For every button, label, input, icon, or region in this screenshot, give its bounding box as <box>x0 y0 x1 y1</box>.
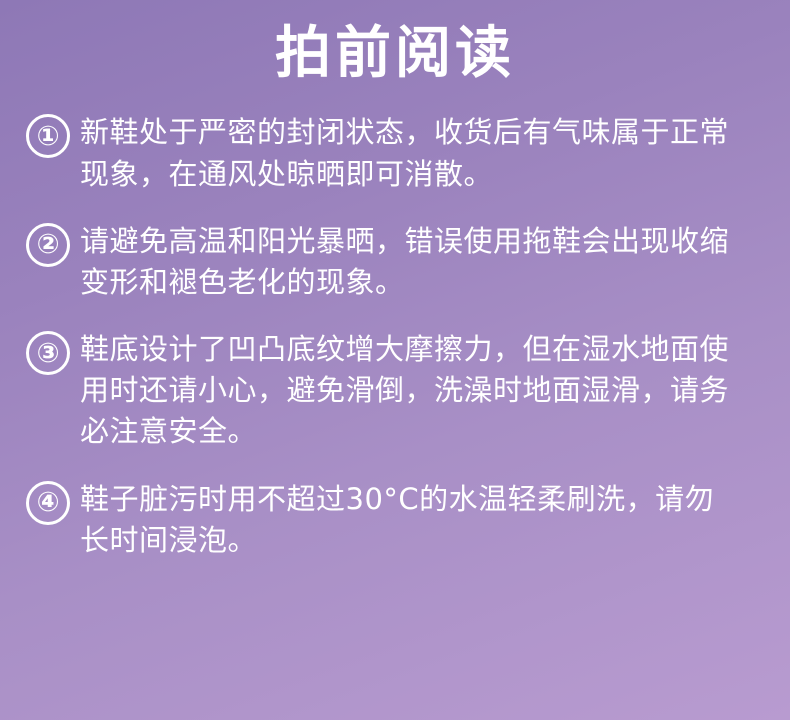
list-item: ③ 鞋底设计了凹凸底纹增大摩擦力，但在湿水地面使用时还请小心，避免滑倒，洗澡时地… <box>26 329 750 453</box>
item-number-badge: ② <box>26 223 70 267</box>
item-text: 鞋底设计了凹凸底纹增大摩擦力，但在湿水地面使用时还请小心，避免滑倒，洗澡时地面湿… <box>80 329 740 453</box>
notice-list: ① 新鞋处于严密的封闭状态，收货后有气味属于正常现象，在通风处晾晒即可消散。 ②… <box>0 96 790 561</box>
item-number-badge: ① <box>26 114 70 158</box>
item-text: 新鞋处于严密的封闭状态，收货后有气味属于正常现象，在通风处晾晒即可消散。 <box>80 112 740 194</box>
list-item: ④ 鞋子脏污时用不超过30°C的水温轻柔刷洗，请勿长时间浸泡。 <box>26 479 750 561</box>
item-text: 请避免高温和阳光暴晒，错误使用拖鞋会出现收缩变形和褪色老化的现象。 <box>80 221 740 303</box>
list-item: ① 新鞋处于严密的封闭状态，收货后有气味属于正常现象，在通风处晾晒即可消散。 <box>26 112 750 194</box>
item-text: 鞋子脏污时用不超过30°C的水温轻柔刷洗，请勿长时间浸泡。 <box>80 479 740 561</box>
item-number-badge: ④ <box>26 481 70 525</box>
notice-page: 拍前阅读 ① 新鞋处于严密的封闭状态，收货后有气味属于正常现象，在通风处晾晒即可… <box>0 0 790 720</box>
list-item: ② 请避免高温和阳光暴晒，错误使用拖鞋会出现收缩变形和褪色老化的现象。 <box>26 221 750 303</box>
page-title: 拍前阅读 <box>0 0 790 96</box>
item-number-badge: ③ <box>26 331 70 375</box>
